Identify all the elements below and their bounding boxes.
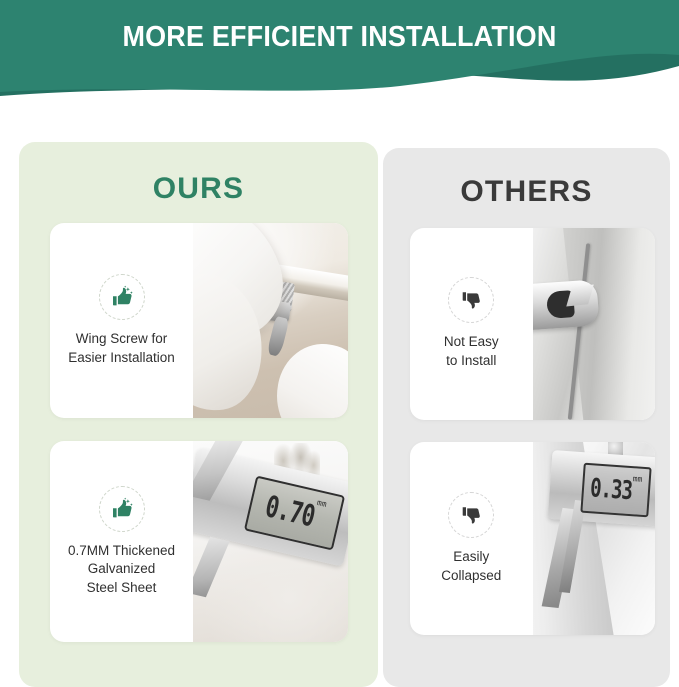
- card-text-side: Wing Screw for Easier Installation: [50, 223, 193, 418]
- pliers-wire-photo: [533, 228, 656, 420]
- card-text-side: 0.7MM Thickened Galvanized Steel Sheet: [50, 441, 193, 642]
- ours-heading: OURS: [19, 172, 378, 206]
- digital-caliper-photo: 0.70 mm: [193, 441, 348, 642]
- thumbs-up-sparkle-icon: [99, 274, 145, 320]
- ours-card-wing-screw: Wing Screw for Easier Installation: [50, 223, 348, 418]
- label-line: Collapsed: [441, 567, 501, 586]
- ours-card-1-label: Wing Screw for Easier Installation: [68, 330, 175, 367]
- digital-caliper-thin-sheet-photo: 0.33 mm: [533, 442, 656, 635]
- label-line: to Install: [444, 352, 499, 371]
- card-text-side: Easily Collapsed: [410, 442, 533, 635]
- gloved-hands-wing-screw-photo: [193, 223, 348, 418]
- others-card-1-label: Not Easy to Install: [444, 333, 499, 370]
- label-line: Not Easy: [444, 333, 499, 352]
- thumbs-up-sparkle-icon: [99, 486, 145, 532]
- label-line: Easier Installation: [68, 349, 175, 368]
- others-card-easily-collapsed: Easily Collapsed 0.33 mm: [410, 442, 655, 635]
- thumbs-down-icon: [448, 277, 494, 323]
- ours-card-steel-sheet: 0.7MM Thickened Galvanized Steel Sheet 0…: [50, 441, 348, 642]
- card-text-side: Not Easy to Install: [410, 228, 533, 420]
- label-line: Galvanized: [68, 560, 175, 579]
- caliper-reading: 0.33: [589, 474, 633, 507]
- others-card-not-easy-install: Not Easy to Install: [410, 228, 655, 420]
- caliper-unit: mm: [316, 498, 327, 509]
- comparison-section: OURS Wing Screw for Easier Installation: [0, 0, 679, 679]
- label-line: Steel Sheet: [68, 579, 175, 598]
- others-heading: OTHERS: [383, 175, 670, 209]
- label-line: Wing Screw for: [68, 330, 175, 349]
- caliper-reading: 0.70: [262, 490, 317, 534]
- caliper-lcd-display: 0.33 mm: [580, 463, 651, 518]
- label-line: 0.7MM Thickened: [68, 542, 175, 561]
- ours-card-2-label: 0.7MM Thickened Galvanized Steel Sheet: [68, 542, 175, 598]
- thumbs-down-icon: [448, 492, 494, 538]
- others-card-2-label: Easily Collapsed: [441, 548, 501, 585]
- caliper-unit: mm: [632, 474, 642, 484]
- label-line: Easily: [441, 548, 501, 567]
